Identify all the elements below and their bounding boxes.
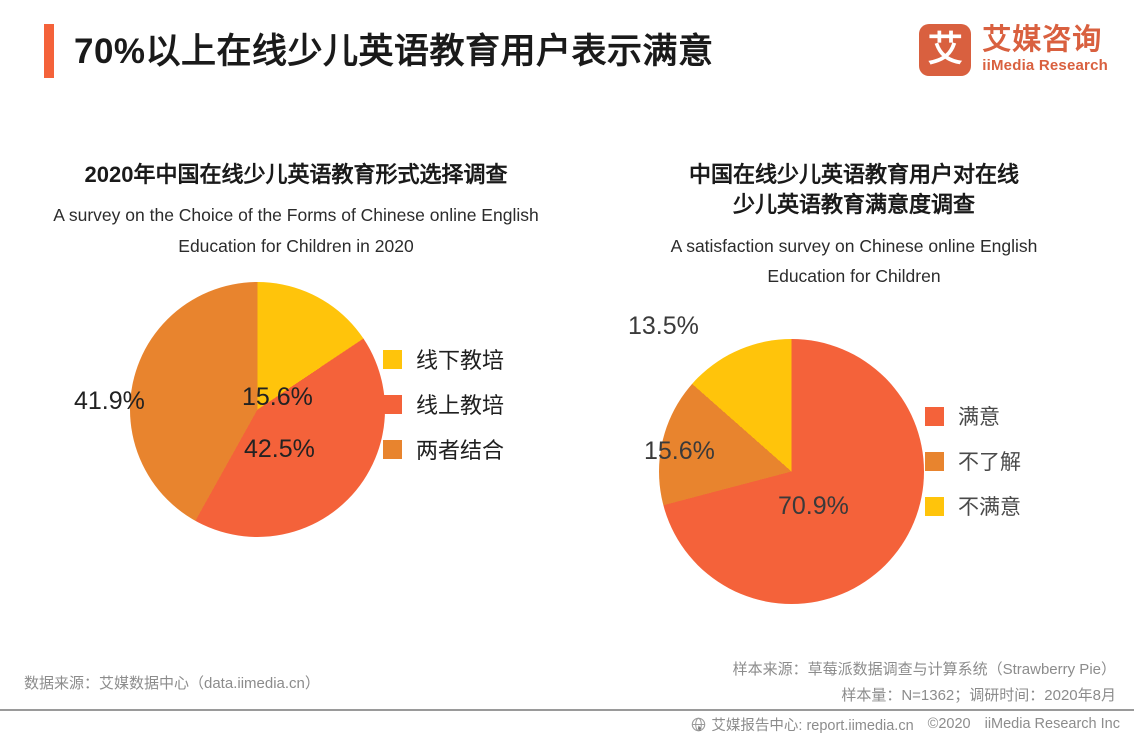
legend-forms-choice: 线下教培 线上教培 两者结合 [383,337,504,472]
brand-logo: 艾 艾媒咨询 iiMedia Research [919,24,1108,76]
left-chart-title-cn: 2020年中国在线少儿英语教育形式选择调查 [18,160,574,190]
right-chart-title-en: A satisfaction survey on Chinese online … [584,231,1124,292]
legend-label-buliaojie: 不了解 [958,446,1021,476]
data-source-left: 数据来源：艾媒数据中心（data.iimedia.cn） [24,672,320,693]
legend-swatch-orange-icon [383,440,402,459]
legend-label-xianxia-jiaopei: 线下教培 [416,343,504,375]
legend-item-bumanyi[interactable]: 不满意 [925,484,1021,529]
page-title: 70%以上在线少儿英语教育用户表示满意 [74,34,714,69]
legend-label-manyi: 满意 [958,401,1000,431]
sample-source-line: 样本来源：草莓派数据调查与计算系统（Strawberry Pie） [733,657,1116,683]
panel-satisfaction: 中国在线少儿英语教育用户对在线 少儿英语教育满意度调查 A satisfacti… [584,160,1124,612]
pie-slice-label-bumanyi: 13.5% [628,312,699,341]
title-block: 70%以上在线少儿英语教育用户表示满意 [44,24,714,78]
legend-item-manyi[interactable]: 满意 [925,394,1021,439]
legend-satisfaction: 满意 不了解 不满意 [925,394,1021,529]
pie-chart-satisfaction[interactable] [659,339,924,604]
legend-swatch-orange-icon [925,452,944,471]
pie-slice-label-manyi: 70.9% [778,492,849,521]
legend-item-liangzhe-jiehe[interactable]: 两者结合 [383,427,504,472]
left-chart-title-en: A survey on the Choice of the Forms of C… [18,200,574,261]
right-chart-title-cn: 中国在线少儿英语教育用户对在线 少儿英语教育满意度调查 [584,160,1124,221]
logo-mark-icon: 艾 [919,24,971,76]
legend-swatch-red-orange-icon [925,407,944,426]
sample-size-line: 样本量：N=1362；调研时间：2020年8月 [733,683,1116,709]
data-source-right: 样本来源：草莓派数据调查与计算系统（Strawberry Pie） 样本量：N=… [733,657,1116,710]
right-chart-area: 70.9% 15.6% 13.5% 满意 不了解 不满意 [584,312,1124,612]
logo-text: 艾媒咨询 iiMedia Research [982,25,1108,75]
legend-swatch-yellow-icon [383,350,402,369]
left-chart-title-en-line2: Education for Children in 2020 [18,231,574,262]
header: 70%以上在线少儿英语教育用户表示满意 艾 艾媒咨询 iiMedia Resea… [0,0,1134,105]
left-chart-title-en-line1: A survey on the Choice of the Forms of C… [18,200,574,231]
right-pie-holder [659,339,924,604]
legend-item-xianxia-jiaopei[interactable]: 线下教培 [383,337,504,382]
legend-item-xianshang-jiaopei[interactable]: 线上教培 [383,382,504,427]
footer-bar: 艾媒报告中心: report.iimedia.cn ©2020 iiMedia … [0,711,1134,737]
right-chart-title-en-line2: Education for Children [584,261,1124,292]
legend-label-liangzhe-jiehe: 两者结合 [416,433,504,465]
pie-slice-label-xianxia: 15.6% [242,383,313,412]
panel-forms-choice: 2020年中国在线少儿英语教育形式选择调查 A survey on the Ch… [18,160,574,582]
globe-icon [691,717,706,732]
pie-slice-label-xianshang: 42.5% [244,435,315,464]
legend-label-xianshang-jiaopei: 线上教培 [416,388,504,420]
footer-copyright: ©2020 [928,716,971,732]
title-accent-bar [44,24,54,78]
footer-report-center[interactable]: 艾媒报告中心: report.iimedia.cn [711,714,913,735]
logo-name-cn: 艾媒咨询 [982,25,1108,55]
right-chart-title-cn-line1: 中国在线少儿英语教育用户对在线 [584,160,1124,190]
logo-name-en: iiMedia Research [982,57,1108,75]
left-chart-area: 15.6% 42.5% 41.9% 线下教培 线上教培 两者结合 [18,282,574,582]
footer-company: iiMedia Research Inc [985,716,1120,732]
pie-slice-label-liangzhe: 41.9% [74,387,145,416]
pie-slice-label-buliaojie: 15.6% [644,437,715,466]
infographic-page: 70%以上在线少儿英语教育用户表示满意 艾 艾媒咨询 iiMedia Resea… [0,0,1134,737]
legend-label-bumanyi: 不满意 [958,491,1021,521]
legend-swatch-red-orange-icon [383,395,402,414]
right-chart-title-en-line1: A satisfaction survey on Chinese online … [584,231,1124,262]
legend-swatch-yellow-icon [925,497,944,516]
legend-item-buliaojie[interactable]: 不了解 [925,439,1021,484]
right-chart-title-cn-line2: 少儿英语教育满意度调查 [584,190,1124,220]
